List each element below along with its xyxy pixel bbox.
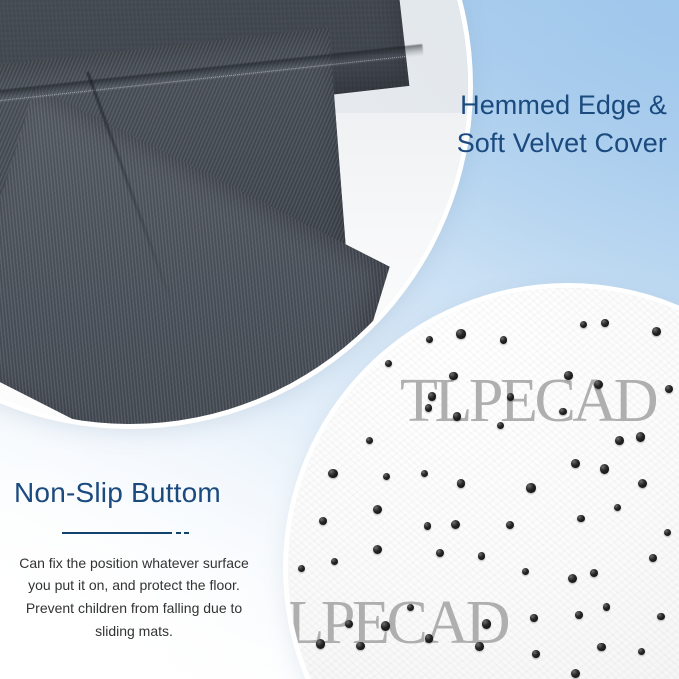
silicone-dot <box>664 529 671 536</box>
silicone-dot <box>571 459 580 468</box>
silicone-dot <box>522 568 529 575</box>
feature-body-line: you put it on, and protect the floor. <box>14 574 254 597</box>
feature-body-line: sliding mats. <box>14 620 254 643</box>
headline: Hemmed Edge & Soft Velvet Cover <box>367 86 667 163</box>
silicone-dot <box>426 336 434 344</box>
silicone-dot <box>564 371 573 380</box>
backing-fabric: TLPECAD TLPECAD TLPECAD <box>288 288 679 679</box>
divider-bar <box>62 532 172 534</box>
silicone-dot <box>453 412 461 420</box>
silicone-dot <box>601 319 609 327</box>
silicone-dot <box>530 614 538 622</box>
divider-dash-2 <box>184 532 189 534</box>
silicone-dot <box>506 521 514 529</box>
silicone-dot <box>603 603 610 610</box>
silicone-dot <box>571 669 580 678</box>
silicone-dot <box>381 621 390 630</box>
brand-wordmark-text: TLPECAD <box>400 367 655 435</box>
silicone-dot <box>436 549 444 557</box>
silicone-dot <box>575 611 583 619</box>
silicone-dot <box>638 648 645 655</box>
silicone-dot <box>366 437 373 444</box>
feature-title: Non-Slip Buttom <box>0 476 268 510</box>
silicone-dot <box>638 479 647 488</box>
silicone-dot <box>328 469 338 479</box>
silicone-dot <box>331 558 338 565</box>
silicone-dot <box>652 327 661 336</box>
silicone-dot <box>665 385 674 394</box>
silicone-dot <box>532 650 539 657</box>
silicone-dot <box>580 321 587 328</box>
divider-dash-1 <box>176 532 181 534</box>
silicone-dot <box>482 619 491 628</box>
silicone-dot <box>478 552 486 560</box>
headline-line-1: Hemmed Edge & <box>367 86 667 124</box>
silicone-dot <box>298 565 305 572</box>
silicone-dot <box>507 393 515 401</box>
feature-description: Can fix the position whatever surface yo… <box>0 552 268 643</box>
photo-non-slip-backing: TLPECAD TLPECAD TLPECAD <box>288 288 679 679</box>
silicone-dot <box>424 522 432 530</box>
silicone-dot <box>526 483 535 492</box>
silicone-dot <box>590 569 598 577</box>
silicone-dot <box>319 517 327 525</box>
silicone-dot <box>636 432 645 441</box>
silicone-dot <box>421 470 428 477</box>
silicone-dot <box>475 642 483 650</box>
silicone-dot <box>451 520 460 529</box>
headline-line-2: Soft Velvet Cover <box>367 124 667 162</box>
feature-body-line: Can fix the position whatever surface <box>14 552 254 575</box>
silicone-dot <box>457 479 466 488</box>
title-divider <box>0 524 268 542</box>
silicone-dot <box>456 329 465 338</box>
silicone-dot <box>373 505 382 514</box>
silicone-dot <box>615 436 624 445</box>
brand-wordmark: TLPECAD <box>400 366 655 437</box>
silicone-dot <box>383 473 391 481</box>
product-infographic: TLPECAD TLPECAD TLPECAD Hemmed Edge & So… <box>0 0 679 679</box>
feature-block-non-slip: Non-Slip Buttom Can fix the position wha… <box>0 476 268 642</box>
silicone-dot <box>600 464 610 474</box>
silicone-dot <box>500 336 507 343</box>
feature-body-line: Prevent children from falling due to <box>14 597 254 620</box>
silicone-dot <box>425 634 434 643</box>
silicone-dot <box>657 613 665 621</box>
silicone-dot <box>385 360 392 367</box>
silicone-dot <box>597 643 606 652</box>
silicone-dot <box>497 422 504 429</box>
silicone-dot <box>373 545 383 555</box>
silicone-dot <box>649 554 657 562</box>
silicone-dot <box>577 515 585 523</box>
silicone-dot <box>568 574 577 583</box>
silicone-dot <box>614 504 621 511</box>
